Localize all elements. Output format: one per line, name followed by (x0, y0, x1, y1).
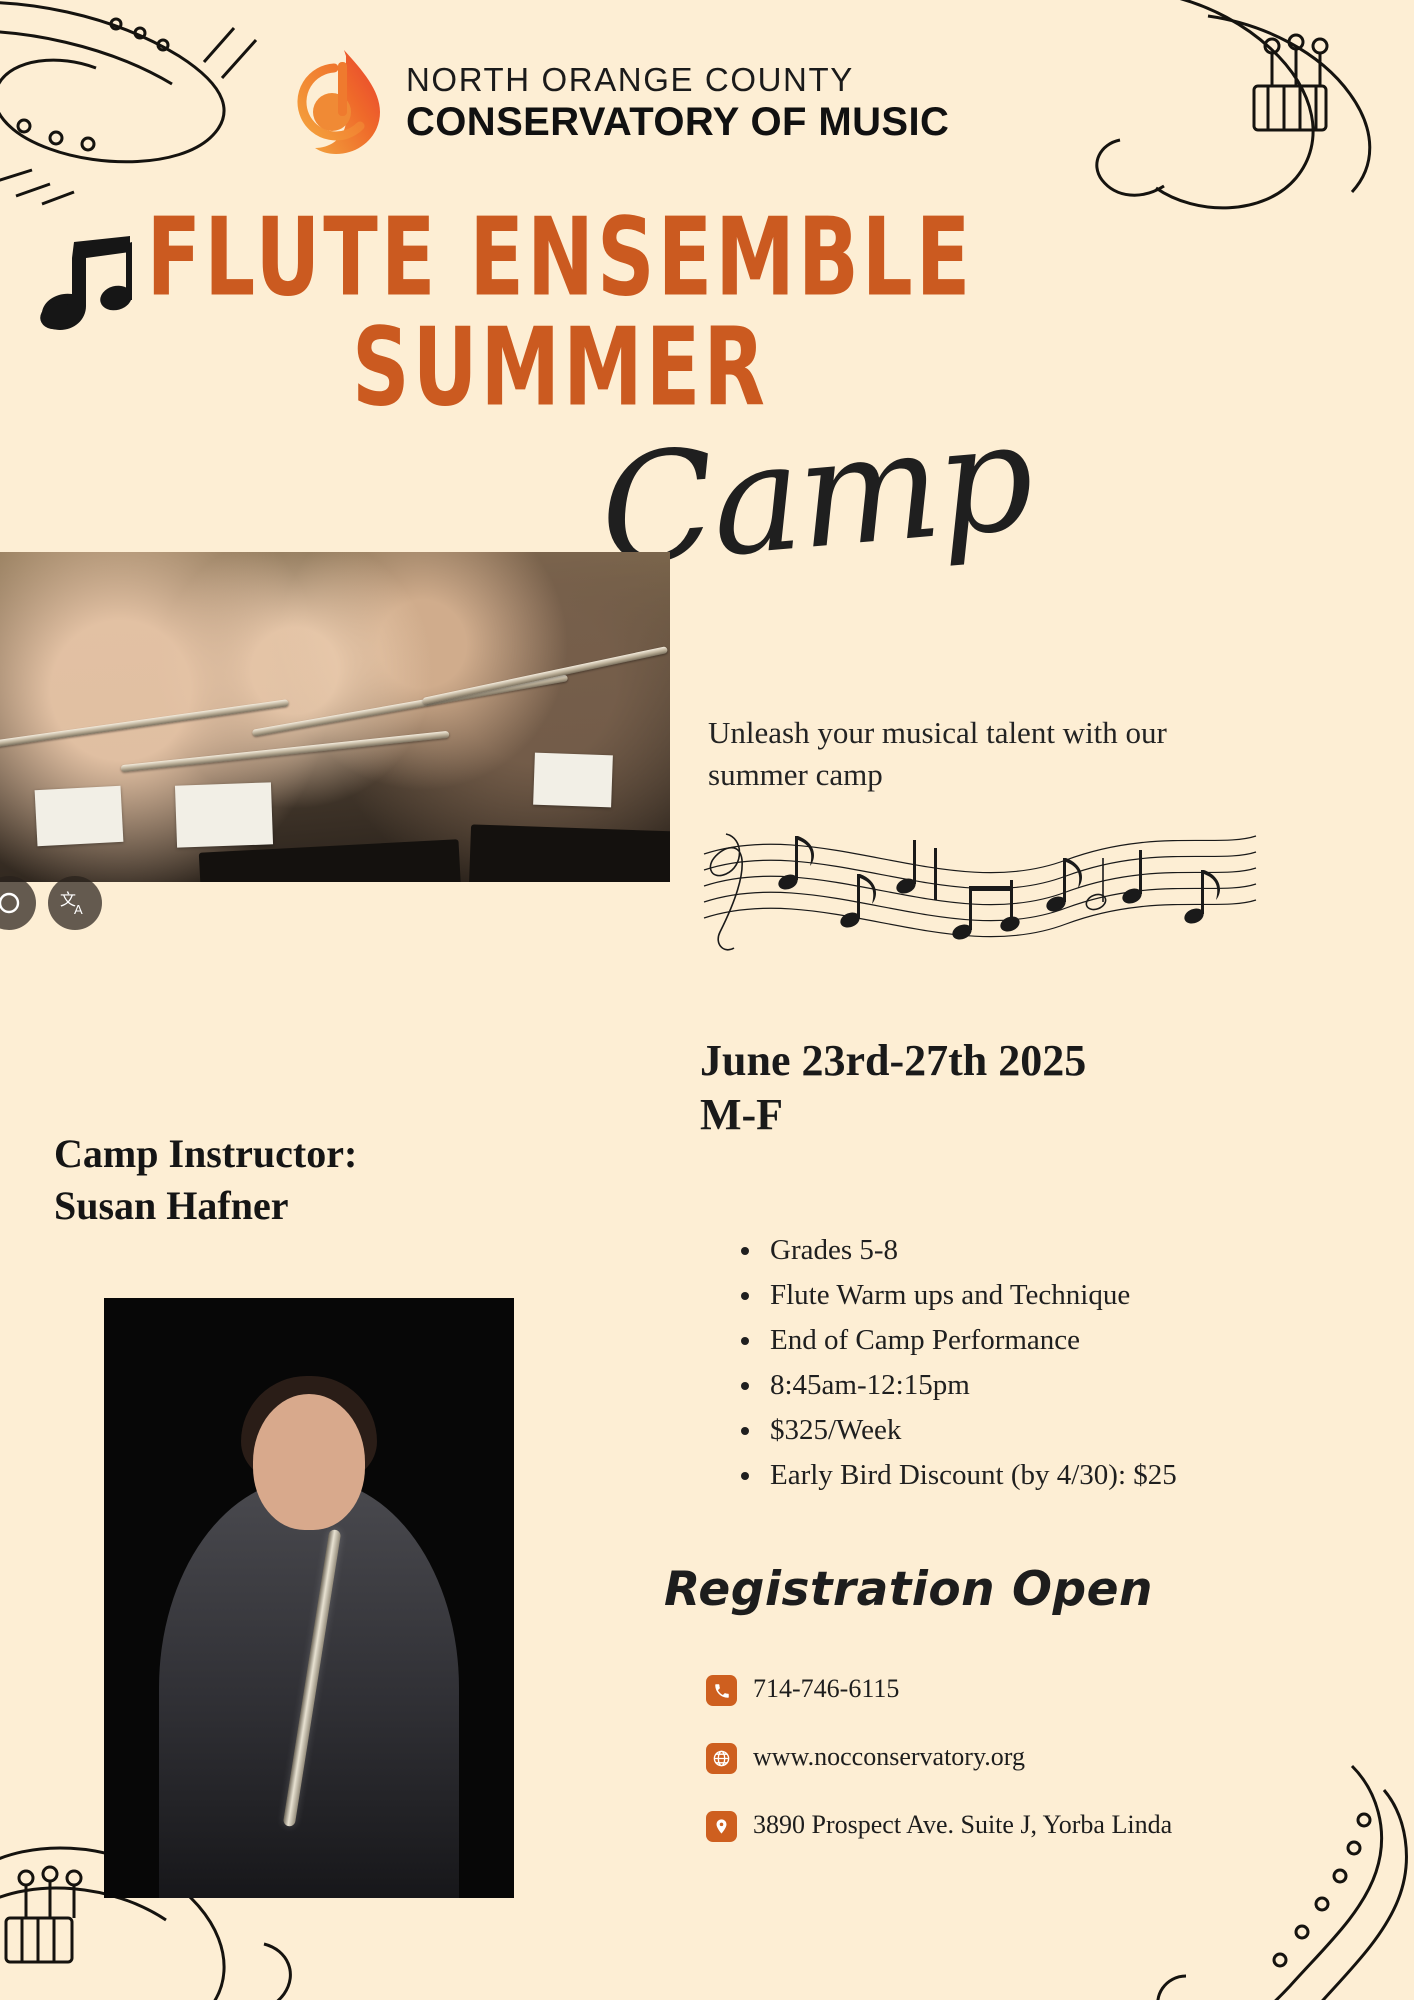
logo-line-1: NORTH ORANGE COUNTY (406, 63, 949, 96)
tagline: Unleash your musical talent with our sum… (708, 712, 1260, 796)
logo-line-2: CONSERVATORY OF MUSIC (406, 102, 949, 142)
list-item: Flute Warm ups and Technique (764, 1273, 1177, 1318)
website-url: www.nocconservatory.org (753, 1740, 1025, 1774)
ensemble-photo (0, 552, 670, 882)
conservatory-logo: NORTH ORANGE COUNTY CONSERVATORY OF MUSI… (288, 48, 949, 156)
phone-number: 714-746-6115 (753, 1672, 899, 1706)
partial-circle-icon (0, 890, 22, 916)
instructor-photo (104, 1298, 514, 1898)
instructor-label: Camp Instructor: (54, 1128, 357, 1180)
registration-heading: Registration Open (664, 1562, 1153, 1617)
camp-dates-line-1: June 23rd-27th 2025 (700, 1034, 1086, 1088)
list-item: $325/Week (764, 1408, 1177, 1453)
contact-row-address[interactable]: 3890 Prospect Ave. Suite J, Yorba Linda (706, 1808, 1172, 1842)
instructor-name: Susan Hafner (54, 1180, 357, 1232)
camp-dates: June 23rd-27th 2025 M-F (700, 1034, 1086, 1141)
list-item: 8:45am-12:15pm (764, 1363, 1177, 1408)
musical-staff-art (700, 808, 1260, 983)
globe-icon (706, 1743, 737, 1774)
headline-line-1: FLUTE ENSEMBLE (0, 208, 1120, 307)
list-item: Grades 5-8 (764, 1228, 1177, 1273)
clarinet-line-art (1140, 1760, 1414, 2000)
camp-dates-line-2: M-F (700, 1088, 1086, 1142)
contact-row-phone[interactable]: 714-746-6115 (706, 1672, 1172, 1706)
svg-text:A: A (74, 902, 83, 917)
overlay-button-1[interactable] (0, 876, 36, 930)
camp-details-list: Grades 5-8 Flute Warm ups and Technique … (734, 1228, 1177, 1498)
page-title: FLUTE ENSEMBLE SUMMER (0, 208, 1120, 391)
contact-info: 714-746-6115 www.nocconservatory.org 389… (706, 1672, 1172, 1842)
music-note-logo-icon (288, 48, 384, 156)
translate-icon: 文 A (60, 888, 90, 918)
translate-button[interactable]: 文 A (48, 876, 102, 930)
list-item: End of Camp Performance (764, 1318, 1177, 1363)
instructor-portrait-head (253, 1394, 365, 1530)
street-address: 3890 Prospect Ave. Suite J, Yorba Linda (753, 1808, 1172, 1842)
list-item: Early Bird Discount (by 4/30): $25 (764, 1453, 1177, 1498)
instructor-heading: Camp Instructor: Susan Hafner (54, 1128, 357, 1232)
contact-row-website[interactable]: www.nocconservatory.org (706, 1740, 1172, 1774)
flyer-poster: NORTH ORANGE COUNTY CONSERVATORY OF MUSI… (0, 0, 1414, 2000)
saxophone-line-art (0, 0, 284, 216)
phone-icon (706, 1675, 737, 1706)
location-pin-icon (706, 1811, 737, 1842)
